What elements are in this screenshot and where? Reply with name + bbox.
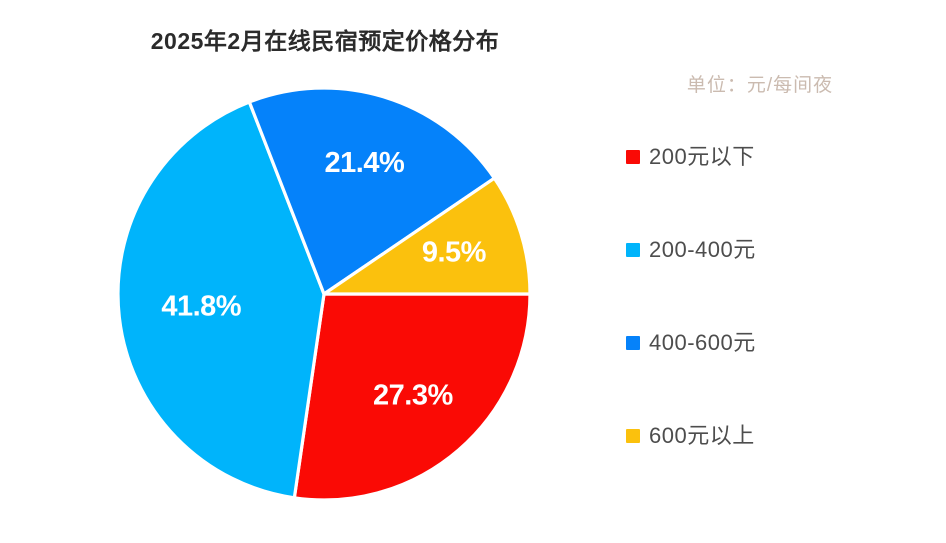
pie-chart-figure: 2025年2月在线民宿预定价格分布 单位：元/每间夜 27.3%41.8%21.…: [0, 0, 946, 543]
legend-item-label: 600元以上: [649, 425, 755, 447]
legend-item-label: 400-600元: [649, 332, 756, 354]
legend-item[interactable]: 200-400元: [626, 235, 926, 265]
pie-plot-area: 27.3%41.8%21.4%9.5%: [110, 80, 540, 510]
legend-item[interactable]: 600元以上: [626, 421, 926, 451]
legend-item-label: 200-400元: [649, 239, 756, 261]
pie-slice-value-label: 27.3%: [373, 379, 453, 411]
legend-item[interactable]: 400-600元: [626, 328, 926, 358]
legend-swatch-icon: [626, 243, 640, 257]
legend-item-label: 200元以下: [649, 146, 755, 168]
legend-item[interactable]: 200元以下: [626, 142, 926, 172]
legend-swatch-icon: [626, 429, 640, 443]
pie-slice-value-label: 41.8%: [161, 291, 241, 323]
pie-slice-value-label: 21.4%: [325, 147, 405, 179]
pie-svg: 27.3%41.8%21.4%9.5%: [110, 80, 540, 510]
legend: 200元以下200-400元400-600元600元以上: [626, 142, 926, 451]
unit-label: 单位：元/每间夜: [620, 70, 900, 97]
chart-title: 2025年2月在线民宿预定价格分布: [0, 22, 650, 56]
pie-slice-value-label: 9.5%: [422, 237, 487, 269]
legend-swatch-icon: [626, 336, 640, 350]
legend-swatch-icon: [626, 150, 640, 164]
